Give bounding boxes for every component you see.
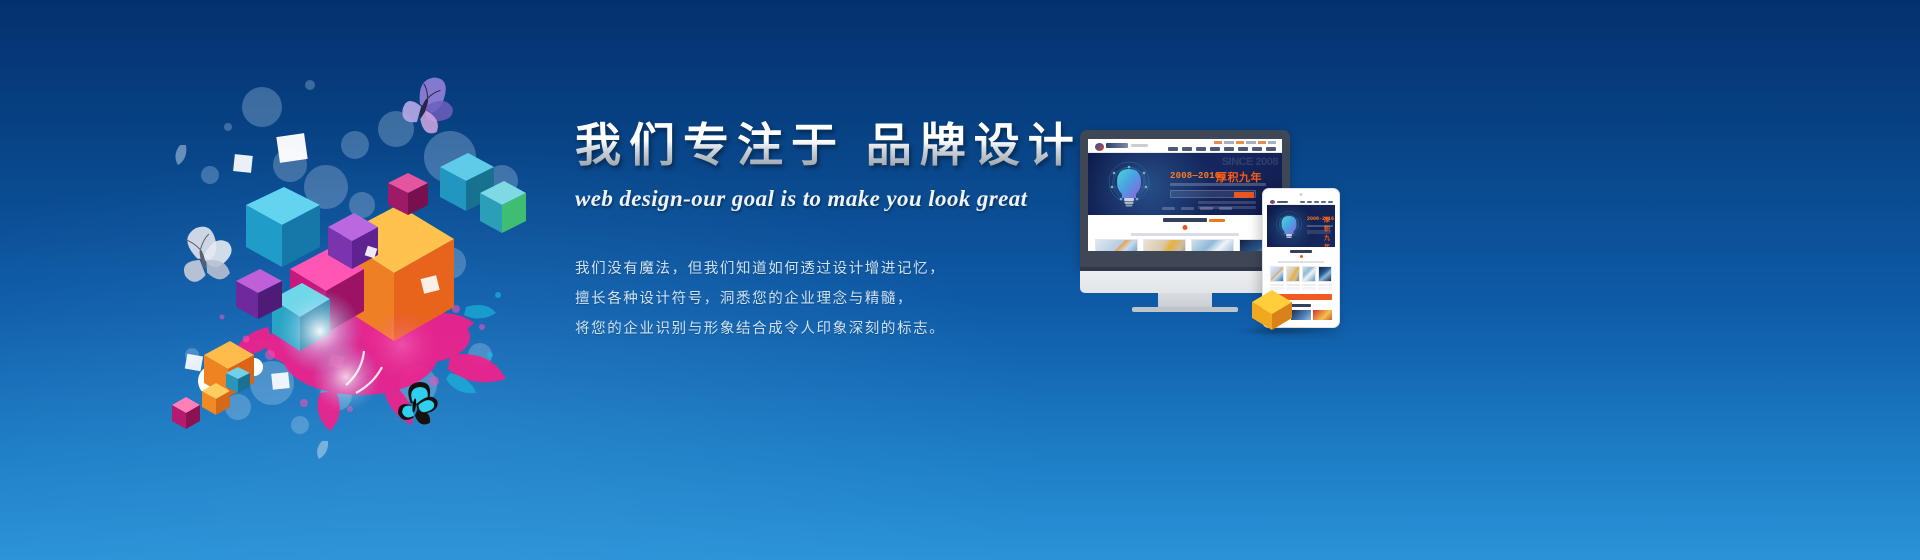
- tablet-gallery-item: [1313, 310, 1332, 320]
- tablet-hero-cta: [1307, 230, 1331, 234]
- tablet-navbar: [1267, 198, 1335, 205]
- mockup-thumbnail-row: [1095, 239, 1282, 251]
- device-mockups: SINCE 2008: [1080, 130, 1380, 360]
- nav-item: [1238, 147, 1248, 151]
- mockup-logo-subtext: [1131, 144, 1148, 147]
- tablet-section-title: [1290, 250, 1312, 253]
- mockup-thumbnail: [1143, 239, 1186, 251]
- nav-item: [1210, 147, 1220, 151]
- nav-item: [1224, 147, 1234, 151]
- tablet-thumbnail: [1318, 266, 1332, 282]
- pagination-dot: [1181, 207, 1194, 210]
- tablet-nav-menu: [1300, 201, 1333, 204]
- tablet-thumbnail: [1286, 266, 1300, 282]
- mockup-hero-cta: [1170, 190, 1256, 198]
- mockup-hero-ghost-text: SINCE 2008: [1222, 156, 1278, 168]
- mockup-hero-subline: [1170, 183, 1266, 186]
- nav-item: [1307, 201, 1312, 204]
- tablet-thumbnail: [1302, 266, 1316, 282]
- tablet-section-dot: [1300, 255, 1303, 258]
- pagination-dot: [1219, 207, 1232, 210]
- mockup-section-title: [1163, 218, 1207, 222]
- nav-item: [1321, 201, 1326, 204]
- nav-item: [1196, 147, 1206, 151]
- nav-item: [1314, 201, 1319, 204]
- mockup-content-section: [1088, 215, 1282, 251]
- mockup-thumbnail: [1095, 239, 1138, 251]
- nav-item: [1182, 147, 1192, 151]
- tablet-thumbnail: [1270, 266, 1284, 282]
- tablet-caption: [1318, 284, 1332, 290]
- mockup-section-desc: [1131, 233, 1239, 236]
- mockup-hero-banner: SINCE 2008: [1088, 153, 1282, 215]
- mockup-hero-pagination: [1162, 207, 1232, 210]
- tablet-lightbulb-icon: [1275, 211, 1303, 241]
- nav-item: [1328, 201, 1333, 204]
- tablet-thumbnail-row: [1267, 263, 1335, 282]
- mockup-hero-meta-1: [1198, 201, 1256, 204]
- tablet-top-bezel: [1263, 189, 1339, 198]
- mockup-hero-year: 2008—2016: [1170, 171, 1220, 181]
- tablet-hero-banner: 2008-2016 厚积九年: [1267, 205, 1335, 247]
- nav-item: [1266, 147, 1276, 151]
- mockup-section-dot: [1183, 225, 1188, 230]
- tablet-camera-icon: [1300, 193, 1303, 196]
- mockup-navbar: [1088, 139, 1282, 153]
- tablet-gallery-item: [1291, 310, 1310, 320]
- monitor-screen: SINCE 2008: [1088, 139, 1282, 251]
- gold-cube-icon: [1248, 286, 1294, 332]
- desktop-monitor: SINCE 2008: [1080, 130, 1290, 300]
- mockup-section-title-accent: [1209, 219, 1225, 222]
- abstract-cubes-splash-artwork: [150, 55, 580, 445]
- pagination-dot: [1162, 207, 1175, 210]
- tablet-logo-icon: [1270, 200, 1275, 204]
- monitor-stand-foot: [1132, 307, 1238, 312]
- mockup-logo-icon: [1095, 143, 1104, 151]
- mockup-topbar-links: [1214, 141, 1276, 144]
- mockup-nav-menu: [1168, 147, 1276, 151]
- lightbulb-icon: [1106, 161, 1152, 209]
- nav-item: [1300, 201, 1305, 204]
- nav-item: [1168, 147, 1178, 151]
- butterfly-silver: [174, 221, 238, 288]
- mockup-thumbnail: [1191, 239, 1234, 251]
- hero-banner: 我们专注于 品牌设计 web design-our goal is to mak…: [0, 0, 1920, 560]
- tablet-caption: [1302, 284, 1316, 290]
- mockup-cta-badge: [1234, 192, 1254, 198]
- monitor-bezel: SINCE 2008: [1080, 130, 1290, 267]
- tablet-logo-text: [1277, 201, 1288, 204]
- nav-item: [1252, 147, 1262, 151]
- tablet-hero-subline: [1307, 225, 1333, 227]
- pagination-dot: [1200, 207, 1213, 210]
- mockup-logo-text: [1106, 143, 1128, 148]
